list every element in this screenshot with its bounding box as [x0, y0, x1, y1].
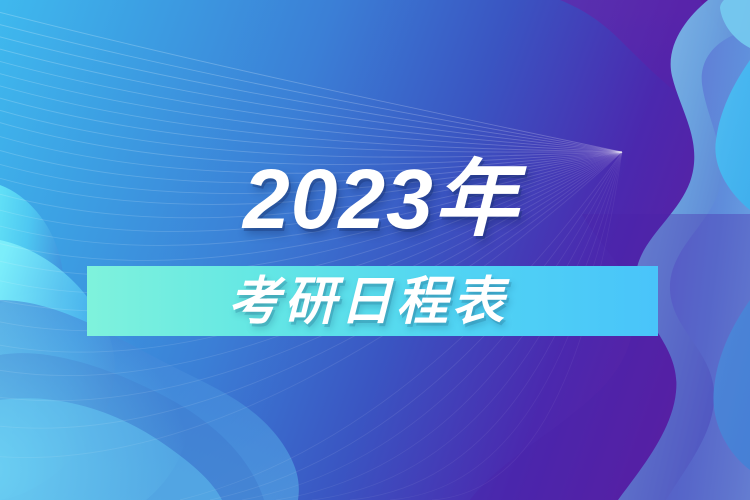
- page-title-year: 2023年: [243, 157, 519, 241]
- poster-canvas: 2023年 考研日程表: [0, 0, 750, 500]
- page-subtitle: 考研日程表: [228, 271, 658, 333]
- title-stack: 2023年 考研日程表: [0, 0, 750, 500]
